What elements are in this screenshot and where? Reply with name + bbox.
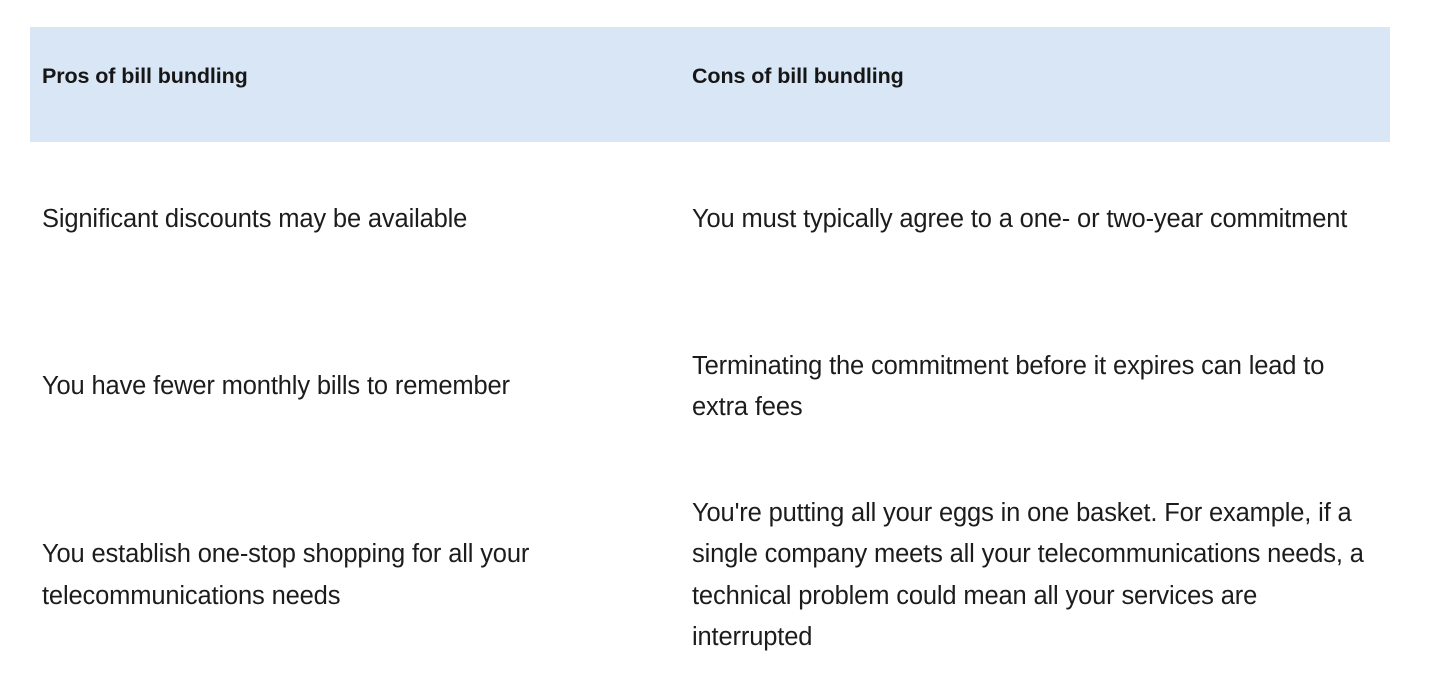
table-header-cell-pros: Pros of bill bundling (30, 27, 692, 90)
table-body: Significant discounts may be available Y… (42, 142, 1390, 674)
table-cell-pros: You have fewer monthly bills to remember (42, 366, 692, 408)
table-row: You have fewer monthly bills to remember… (42, 297, 1390, 477)
table-cell-pros: Significant discounts may be available (42, 199, 692, 241)
table-header-cell-cons: Cons of bill bundling (692, 27, 1390, 90)
table-header-row: Pros of bill bundling Cons of bill bundl… (30, 27, 1390, 142)
table-header-label-pros: Pros of bill bundling (42, 64, 248, 90)
table-cell-cons: You're putting all your eggs in one bask… (692, 493, 1390, 659)
table-row: You establish one-stop shopping for all … (42, 477, 1390, 674)
table-header-label-cons: Cons of bill bundling (692, 64, 904, 90)
table-cell-cons: You must typically agree to a one- or tw… (692, 199, 1390, 241)
pros-cons-comparison-table: Pros of bill bundling Cons of bill bundl… (0, 0, 1440, 674)
table-cell-pros: You establish one-stop shopping for all … (42, 534, 692, 617)
table-row: Significant discounts may be available Y… (42, 142, 1390, 297)
table-cell-cons: Terminating the commitment before it exp… (692, 346, 1390, 429)
